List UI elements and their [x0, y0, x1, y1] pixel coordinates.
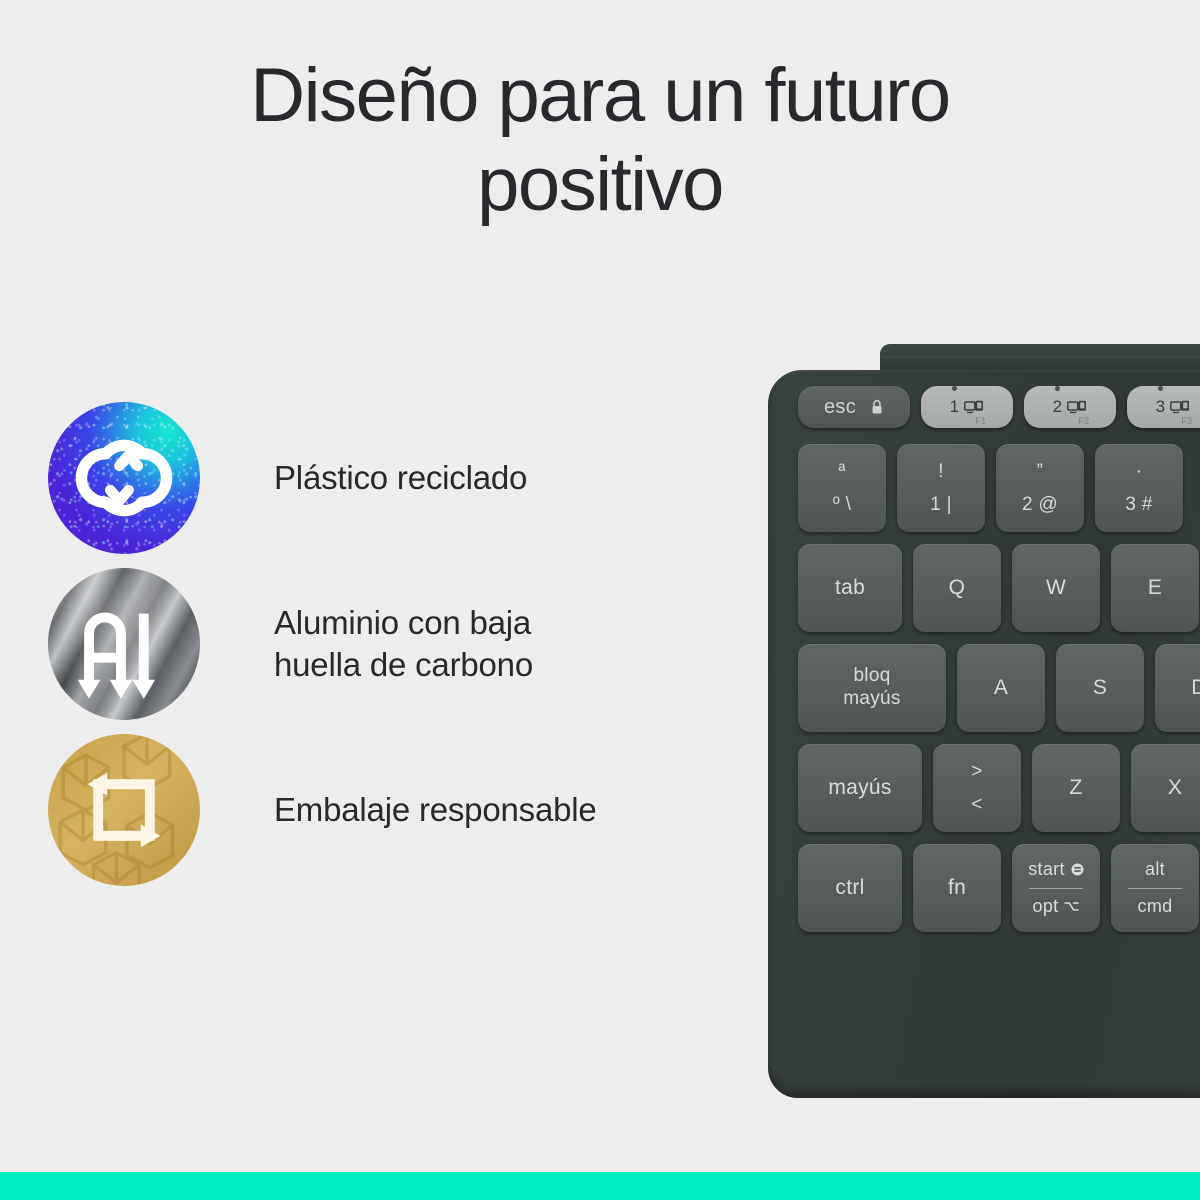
one-key-lower: 1 | [930, 495, 952, 514]
d-key: D [1155, 644, 1200, 732]
feature-item-recycled-plastic: Plástico reciclado [48, 395, 728, 561]
box-loop-arrow-glyph [48, 734, 200, 886]
three-key-upper: · [1136, 462, 1143, 481]
recycle-loop-glyph [48, 402, 200, 554]
capslock-key: bloq mayús [798, 644, 946, 732]
page-title-line-2: positivo [0, 141, 1200, 230]
one-key-upper: ! [938, 462, 944, 481]
easyswitch-1-key: 1 F1 [921, 386, 1013, 428]
feature-icon-wrap [48, 568, 216, 720]
q-key: Q [913, 544, 1001, 632]
easyswitch-3-led [1158, 386, 1163, 391]
alt-label: alt [1145, 859, 1165, 880]
product-image-keyboard: esc 1 F1 [768, 318, 1200, 1098]
d-key-label: D [1191, 676, 1200, 700]
windows-icon [1071, 863, 1084, 876]
opt-label: opt [1033, 896, 1059, 917]
start-opt-key: start opt [1012, 844, 1100, 932]
easyswitch-1-number: 1 [950, 397, 960, 417]
capslock-key-line-1: bloq [853, 665, 890, 688]
easyswitch-2-number: 2 [1053, 397, 1063, 417]
x-key-label: X [1168, 776, 1182, 800]
easyswitch-3-number: 3 [1156, 397, 1166, 417]
e-key: E [1111, 544, 1199, 632]
ordinal-key-upper: ª [838, 462, 845, 481]
e-key-label: E [1148, 576, 1162, 600]
a-key: A [957, 644, 1045, 732]
page-title: Diseño para un futuro positivo [0, 52, 1200, 230]
q-key-label: Q [949, 576, 966, 600]
responsible-packaging-icon [48, 734, 200, 886]
easyswitch-3-sublabel: F3 [1181, 416, 1192, 426]
recycled-plastic-icon [48, 402, 200, 554]
keyboard-row-modifier: ctrl fn start opt [798, 844, 1200, 932]
esc-key: esc [798, 386, 910, 428]
anglebracket-key-lower: < [971, 795, 982, 814]
cmd-label: cmd [1138, 896, 1173, 917]
z-key-label: Z [1069, 776, 1082, 800]
keyboard-keys: esc 1 F1 [798, 386, 1200, 944]
fn-key-label: fn [948, 876, 966, 900]
easyswitch-1-sublabel: F1 [975, 416, 986, 426]
tab-key: tab [798, 544, 902, 632]
feature-label-line-2: huella de carbono [274, 644, 533, 686]
three-key-lower: 3 # [1125, 495, 1152, 514]
ordinal-key: ª º \ [798, 444, 886, 532]
feature-label-line-1: Plástico reciclado [274, 457, 527, 499]
ctrl-key-label: ctrl [835, 876, 864, 900]
two-key-lower: 2 @ [1022, 495, 1058, 514]
easyswitch-1-led [952, 386, 957, 391]
feature-label-aluminium: Aluminio con baja huella de carbono [216, 602, 533, 686]
two-key-upper: ” [1037, 462, 1044, 481]
option-icon [1064, 901, 1079, 912]
keyboard-row-function: esc 1 F1 [798, 386, 1200, 428]
keyboard-row-shift: mayús > < Z X [798, 744, 1200, 832]
shift-key-label: mayús [828, 776, 891, 800]
lock-icon [870, 399, 884, 415]
capslock-key-line-2: mayús [843, 688, 900, 711]
three-key: · 3 # [1095, 444, 1183, 532]
cmd-key: alt cmd [1111, 844, 1199, 932]
page-title-line-1: Diseño para un futuro [0, 52, 1200, 141]
one-key: ! 1 | [897, 444, 985, 532]
easyswitch-2-key: 2 F2 [1024, 386, 1116, 428]
feature-label-line-1: Aluminio con baja [274, 602, 533, 644]
anglebracket-key-upper: > [971, 762, 982, 781]
fn-key: fn [913, 844, 1001, 932]
low-carbon-aluminium-icon [48, 568, 200, 720]
easyswitch-2-sublabel: F2 [1078, 416, 1089, 426]
s-key-label: S [1093, 676, 1107, 700]
easyswitch-3-key: 3 F3 [1127, 386, 1200, 428]
z-key: Z [1032, 744, 1120, 832]
esc-key-label: esc [824, 396, 856, 419]
ctrl-key: ctrl [798, 844, 902, 932]
feature-icon-wrap [48, 402, 216, 554]
feature-item-aluminium: Aluminio con baja huella de carbono [48, 561, 728, 727]
ordinal-key-lower: º \ [833, 495, 851, 514]
w-key: W [1012, 544, 1100, 632]
feature-label-packaging: Embalaje responsable [216, 789, 597, 831]
anglebracket-key: > < [933, 744, 1021, 832]
easyswitch-2-led [1055, 386, 1060, 391]
monitor-icon [964, 400, 984, 415]
feature-label-recycled-plastic: Plástico reciclado [216, 457, 527, 499]
a-key-label: A [994, 676, 1008, 700]
tab-key-label: tab [835, 576, 865, 600]
bottom-accent-bar [0, 1172, 1200, 1200]
sustainability-feature-list: Plástico reciclado [48, 395, 728, 893]
feature-icon-wrap [48, 734, 216, 886]
w-key-label: W [1046, 576, 1066, 600]
monitor-icon [1067, 400, 1087, 415]
keyboard-row-capslock: bloq mayús A S D [798, 644, 1200, 732]
aluminium-al-arrows-glyph [48, 568, 200, 720]
keyboard-row-tab: tab Q W E [798, 544, 1200, 632]
shift-key: mayús [798, 744, 922, 832]
x-key: X [1131, 744, 1200, 832]
s-key: S [1056, 644, 1144, 732]
two-key: ” 2 @ [996, 444, 1084, 532]
feature-label-line-1: Embalaje responsable [274, 789, 597, 831]
keyboard-row-number: ª º \ ! 1 | ” 2 @ · 3 # [798, 444, 1200, 532]
feature-item-packaging: Embalaje responsable [48, 727, 728, 893]
start-label: start [1028, 859, 1065, 880]
monitor-icon [1170, 400, 1190, 415]
